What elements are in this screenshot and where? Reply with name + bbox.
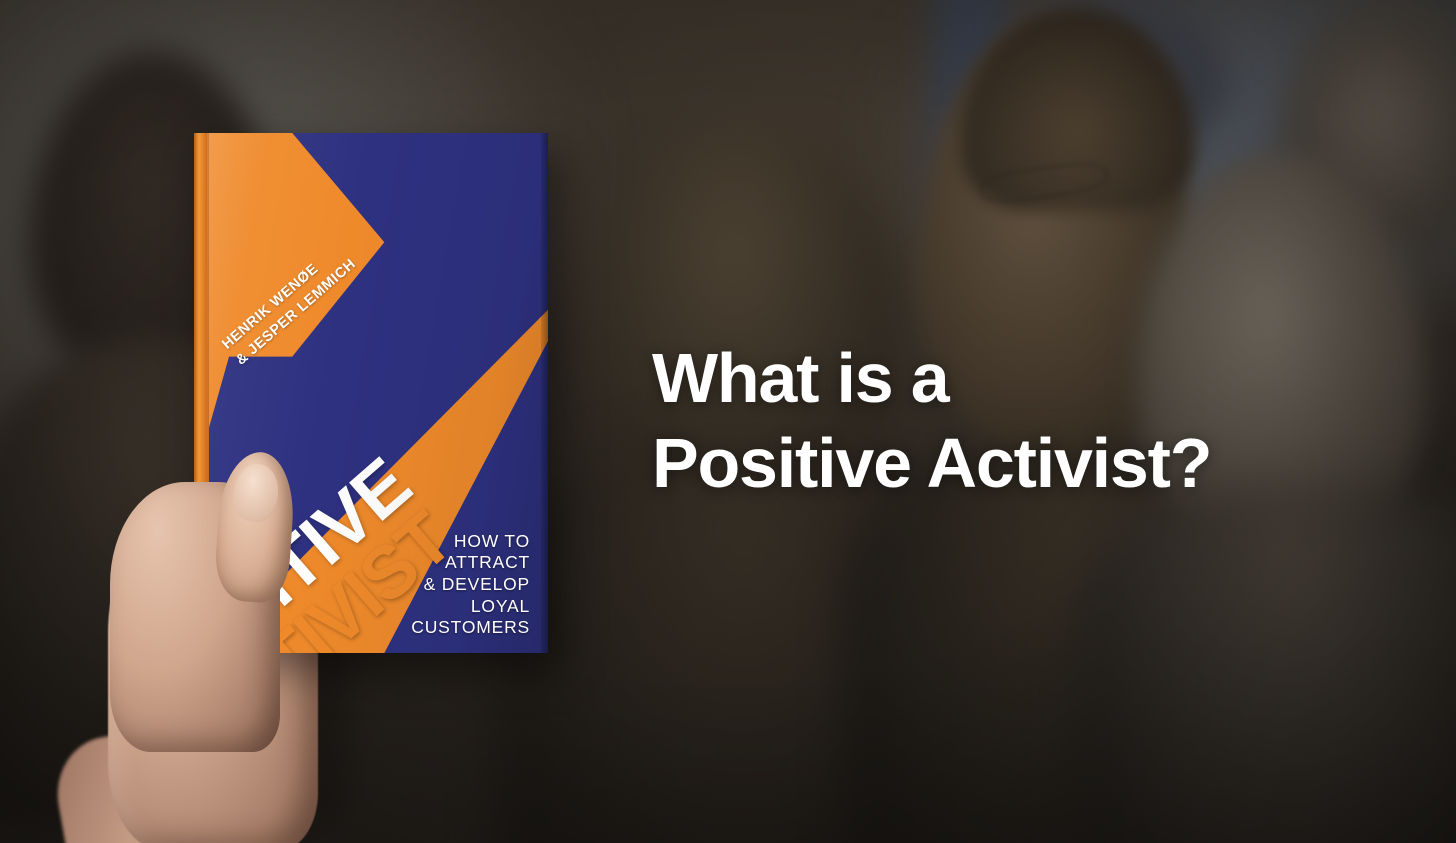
- headline-line-1: What is a: [652, 336, 1211, 421]
- book-right-edge: [541, 133, 548, 653]
- hand-fingers-over-book: [100, 452, 275, 752]
- book-tagline-line-1: HOW TO: [411, 531, 530, 553]
- book-tagline-line-3: & DEVELOP: [411, 574, 530, 596]
- book-tagline-line-4: LOYAL: [411, 596, 530, 618]
- book-authors: HENRIK WENØE & JESPER LEMMICH: [218, 239, 360, 370]
- book-tagline-line-2: ATTRACT: [411, 552, 530, 574]
- headline-line-2: Positive Activist?: [652, 421, 1211, 506]
- slide-canvas: HENRIK WENØE & JESPER LEMMICH THE POSITI…: [0, 0, 1456, 843]
- book-tagline-line-5: CUSTOMERS: [411, 617, 530, 639]
- headline: What is a Positive Activist?: [652, 336, 1211, 505]
- book-tagline: HOW TO ATTRACT & DEVELOP LOYAL CUSTOMERS: [411, 531, 530, 639]
